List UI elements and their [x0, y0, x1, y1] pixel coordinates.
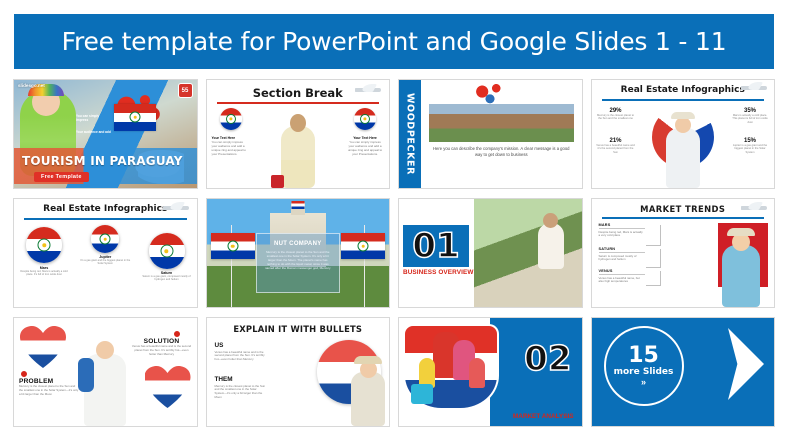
stat-caption: Jupiter is a gas giant and the biggest p…	[730, 144, 770, 154]
circle-item: Jupiter It's a gas giant and the biggest…	[79, 255, 131, 266]
trend-caption: Saturn is composed mostly of hydrogen an…	[599, 255, 645, 263]
child-photographer-photo	[351, 372, 385, 426]
more-slides-ring[interactable]: 15 more Slides »	[604, 326, 684, 406]
bullet-block: US Venus has a beautiful name and is the…	[215, 342, 267, 362]
problem-block: PROBLEM Mercury is the closest planet to…	[19, 378, 79, 396]
airplane-icon	[351, 84, 385, 97]
stat-caption: Venus has a beautiful name and it's the …	[596, 144, 636, 154]
left-block-body: You can simply impress your audience and…	[212, 140, 250, 156]
title-underline	[24, 218, 187, 220]
heart-flag-solution-icon	[145, 366, 191, 408]
more-slides-label: more Slides	[614, 367, 674, 378]
stat-item: 29% Mercury is the closest planet to the…	[596, 108, 636, 121]
ruins-photo	[429, 104, 574, 142]
bullet-caption: Venus has a beautiful name and is the se…	[215, 351, 267, 362]
section-caption: BUSINESS OVERVIEW	[403, 269, 489, 276]
watermark-label: slidesgo.net	[18, 83, 45, 88]
nut-company-artwork: NUT COMPANY Mercury is the closest plane…	[207, 199, 390, 307]
leader-line	[646, 249, 661, 268]
trend-caption: Venus has a beautiful name, but also hig…	[599, 277, 645, 285]
flag-globe-right-icon	[354, 108, 376, 130]
more-slides-count: 15	[628, 345, 659, 367]
flag-seal-icon	[160, 245, 173, 258]
trend-divider	[599, 252, 645, 253]
stat-caption: Mars is actually a cold place. This plan…	[730, 114, 770, 124]
real-estate-percent-artwork: Real Estate Infographics 29% Mercury is …	[592, 80, 775, 188]
problem-solution-artwork: PROBLEM Mercury is the closest planet to…	[14, 318, 197, 426]
item-caption: It's a gas giant and the biggest planet …	[79, 259, 131, 266]
bullet-block: THEM Mercury is the closest planet to th…	[215, 376, 267, 400]
market-trends-artwork: MARKET TRENDS MARS Despite being red, Ma…	[592, 199, 775, 307]
traveller-with-passport-photo	[722, 245, 760, 307]
slide-thumbnail-real-estate-percent[interactable]: Real Estate Infographics 29% Mercury is …	[591, 79, 776, 189]
slide-thumbnail-explain-bullets[interactable]: EXPLAIN IT WITH BULLETS US Venus has a b…	[206, 317, 391, 427]
more-slides-artwork: 15 more Slides »	[592, 318, 775, 426]
cover-bubble-2: Your audience and add	[76, 130, 112, 134]
bullet-label: US	[215, 342, 267, 349]
left-text-block: Your Text Here You can simply impress yo…	[212, 136, 250, 156]
woodpecker-sidebar: WOODPECKER	[399, 80, 421, 188]
slide-thumbnail-market-analysis[interactable]: 02 MARKET ANALYSIS	[398, 317, 583, 427]
leader-line	[646, 225, 661, 246]
slide-thumbnail-nut-company[interactable]: NUT COMPANY Mercury is the closest plane…	[206, 198, 391, 308]
solution-bullet-dot	[173, 330, 181, 338]
slide-thumbnail-more-slides[interactable]: 15 more Slides »	[591, 317, 776, 427]
slide-thumbnail-tourism-cover[interactable]: You can simply impress Your audience and…	[13, 79, 198, 189]
item-caption: Despite being red, Mars is actually a co…	[18, 270, 70, 277]
sidebar-label: WOODPECKER	[405, 93, 416, 175]
slides-grid: You can simply impress Your audience and…	[8, 79, 780, 427]
trend-label: VENUS	[599, 269, 645, 273]
flag-seal-icon	[227, 241, 238, 252]
flag-seal-icon	[226, 114, 236, 124]
heart-flag-shape	[145, 366, 191, 408]
airplane-icon	[737, 82, 771, 95]
flag-seal-icon	[130, 112, 141, 123]
slide-thumbnail-section-break[interactable]: Section Break Your Text Here You can sim…	[206, 79, 391, 189]
circle-item: Mars Despite being red, Mars is actually…	[18, 266, 70, 277]
free-template-badge: Free Template	[34, 172, 89, 182]
stat-item: 21% Venus has a beautiful name and it's …	[596, 138, 636, 154]
paraguay-flag-left-icon	[211, 233, 255, 259]
right-text-block: Your Text Here You can simply impress yo…	[346, 136, 384, 156]
solution-block: SOLUTION Venus has a beautiful name and …	[132, 338, 192, 356]
right-block-body: You can simply impress your audience and…	[346, 140, 384, 156]
family-photo-child-2	[469, 358, 485, 388]
section-caption: MARKET ANALYSIS	[513, 413, 574, 420]
paraguay-flag-icon	[114, 104, 156, 131]
section-number: 01	[412, 229, 459, 263]
stat-caption: Mercury is the closest planet to the Sun…	[596, 114, 636, 121]
traveller-photo	[281, 126, 315, 188]
problem-bullet-dot	[20, 370, 28, 378]
solution-caption: Venus has a beautiful name and is the se…	[132, 345, 192, 356]
page-title: Free template for PowerPoint and Google …	[62, 27, 727, 56]
trend-item: VENUS Venus has a beautiful name, but al…	[599, 269, 645, 284]
slide-title: EXPLAIN IT WITH BULLETS	[207, 324, 390, 334]
template-preview-page: Free template for PowerPoint and Google …	[0, 0, 788, 447]
mission-description: Here you can describe the company's miss…	[429, 146, 574, 158]
airplane-icon	[159, 202, 193, 215]
flag-globe-left-icon	[220, 108, 242, 130]
paraguay-flag-right-icon	[341, 233, 385, 259]
market-analysis-artwork: 02 MARKET ANALYSIS	[399, 318, 582, 426]
flag-circle-mars-icon	[26, 227, 62, 263]
section-number-box: 01	[403, 225, 469, 267]
title-underline	[602, 99, 765, 101]
bullet-caption: Mercury is the closest planet to the Sun…	[215, 385, 267, 400]
leader-line	[646, 271, 661, 286]
title-underline	[602, 217, 765, 219]
paint-splatter-icon	[464, 82, 516, 106]
heart-flag-shape	[20, 326, 66, 368]
real-estate-circles-artwork: Real Estate Infographics Mars Despite be…	[14, 199, 197, 307]
woodpecker-artwork: WOODPECKER Here you can describe the com…	[399, 80, 582, 188]
arrow-right-icon	[728, 328, 764, 400]
business-overview-artwork: 01 BUSINESS OVERVIEW	[399, 199, 582, 307]
flag-circle-saturn-icon	[149, 233, 185, 269]
trend-item: MARS Despite being red, Mars is actually…	[599, 223, 645, 238]
bullet-label: THEM	[215, 376, 267, 383]
heart-flag-problem-icon	[20, 326, 66, 368]
circle-item: Saturn Saturn is a gas giant, composed m…	[141, 271, 193, 282]
section-break-artwork: Section Break Your Text Here You can sim…	[207, 80, 390, 188]
trend-caption: Despite being red, Mars is actually a ve…	[599, 231, 645, 239]
nut-company-body: Mercury is the closest planet to the Sun…	[257, 247, 339, 270]
couple-with-map-photo	[474, 199, 582, 307]
flag-seal-icon	[100, 234, 111, 245]
trend-divider	[599, 228, 645, 229]
chevron-right-icon: »	[641, 378, 646, 387]
item-caption: Saturn is a gas giant, composed mostly o…	[141, 275, 193, 282]
slide-count-badge: 55	[178, 83, 193, 98]
trend-divider	[599, 274, 645, 275]
explain-bullets-artwork: EXPLAIN IT WITH BULLETS US Venus has a b…	[207, 318, 390, 426]
flag-seal-icon	[360, 114, 370, 124]
slide-thumbnail-woodpecker[interactable]: WOODPECKER Here you can describe the com…	[398, 79, 583, 189]
page-banner: Free template for PowerPoint and Google …	[14, 14, 774, 69]
cover-title: TOURISM IN PARAGUAY	[22, 154, 183, 168]
flag-circle-jupiter-icon	[91, 225, 119, 253]
tourist-photo	[666, 128, 700, 188]
airplane-icon	[737, 202, 771, 215]
section-number: 02	[524, 342, 571, 376]
suitcase-icon	[411, 384, 433, 404]
cover-artwork: You can simply impress Your audience and…	[14, 80, 197, 188]
stat-item: 15% Jupiter is a gas giant and the bigge…	[730, 138, 770, 154]
slide-thumbnail-real-estate-circles[interactable]: Real Estate Infographics Mars Despite be…	[13, 198, 198, 308]
slide-thumbnail-problem-solution[interactable]: PROBLEM Mercury is the closest planet to…	[13, 317, 198, 427]
cover-bubble-1: You can simply impress	[76, 114, 112, 122]
flag-seal-icon	[38, 239, 51, 252]
flag-seal-icon	[358, 241, 369, 252]
title-underline	[217, 102, 380, 104]
rooftop-flag-icon	[291, 201, 304, 209]
trend-label: MARS	[599, 223, 645, 227]
trend-item: SATURN Saturn is composed mostly of hydr…	[599, 247, 645, 262]
backpacker-photo	[84, 354, 126, 426]
problem-caption: Mercury is the closest planet to the Sun…	[19, 385, 79, 396]
slide-thumbnail-market-trends[interactable]: MARKET TRENDS MARS Despite being red, Ma…	[591, 198, 776, 308]
stat-item: 35% Mars is actually a cold place. This …	[730, 108, 770, 124]
slide-thumbnail-business-overview[interactable]: 01 BUSINESS OVERVIEW	[398, 198, 583, 308]
trend-label: SATURN	[599, 247, 645, 251]
nut-company-card: NUT COMPANY Mercury is the closest plane…	[256, 233, 340, 293]
